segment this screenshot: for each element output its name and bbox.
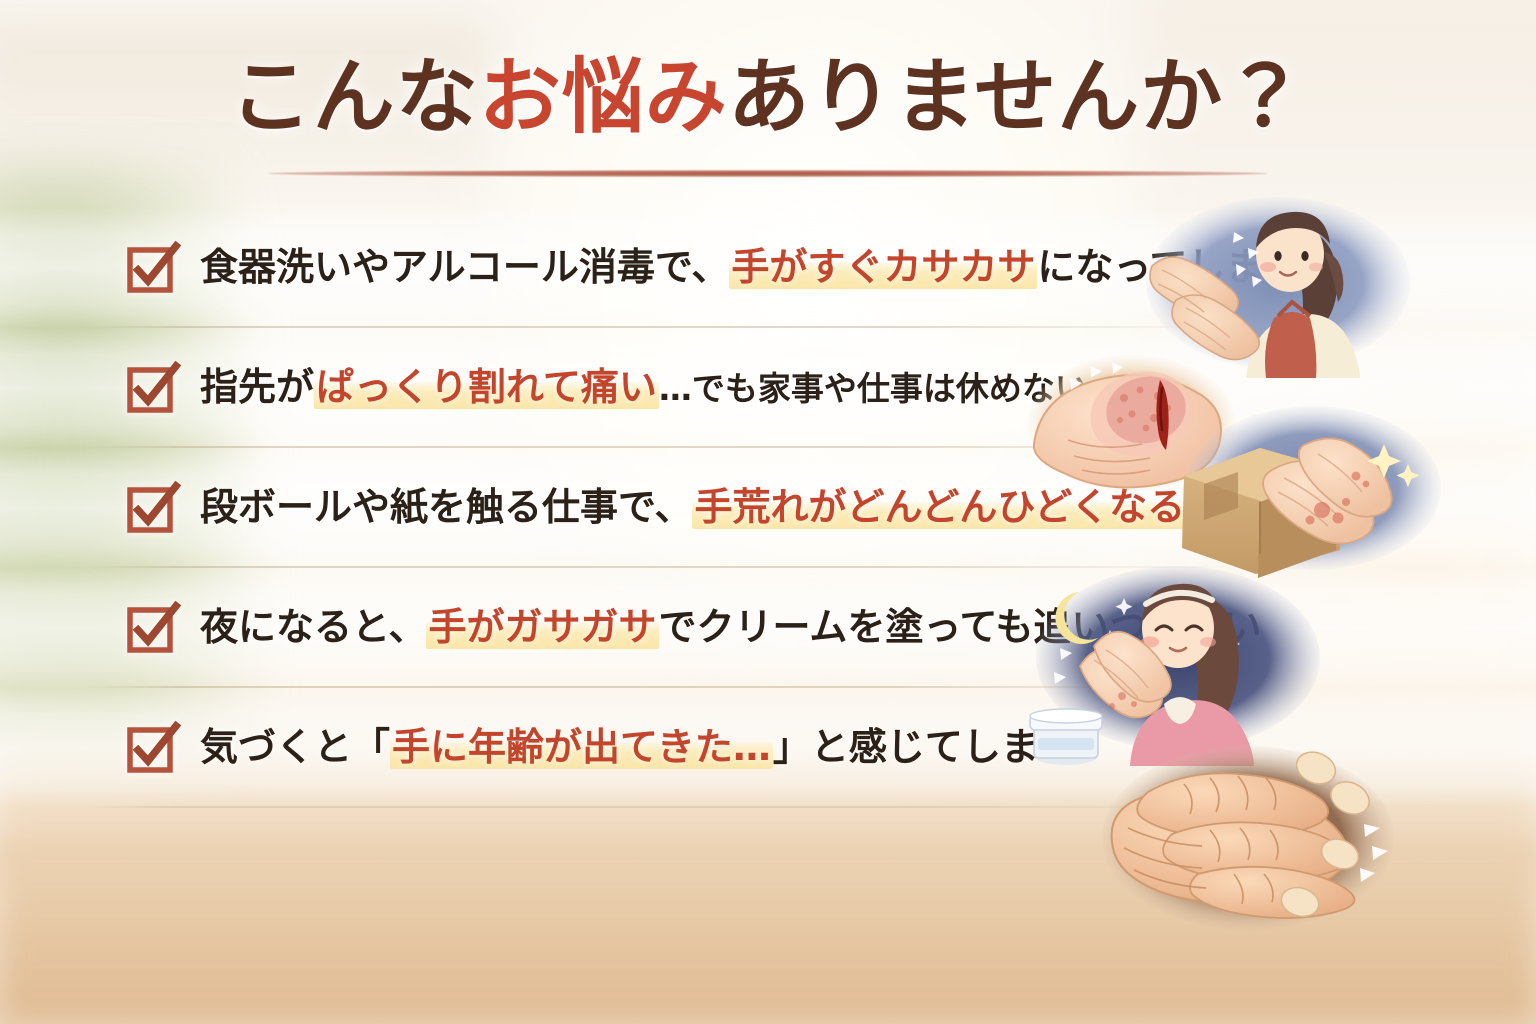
list-item-text: 気づくと「手に年齢が出てきた…」と感じてしまう [200, 724, 1077, 772]
text-highlight: ぱっくり割れて痛い [314, 365, 659, 409]
text-pre: 指先が [200, 365, 314, 409]
text-pre: 夜になると、 [200, 605, 426, 649]
checkbox-checked-icon [126, 722, 178, 774]
text-pre: 気づくと「 [200, 725, 390, 769]
checkbox-checked-icon [126, 602, 178, 654]
illustration-woman-at-night-with-cream [1018, 556, 1338, 766]
text-pre: 食器洗いやアルコール消毒で、 [200, 245, 729, 289]
text-highlight: 手がすぐカサカサ [729, 245, 1037, 289]
checkbox-checked-icon [126, 362, 178, 414]
list-item-text: 指先がぱっくり割れて痛い…でも家事や仕事は休めない [200, 364, 1088, 412]
title-underline-rule [268, 170, 1268, 177]
poster-canvas: こんなお悩みありませんか？ 食器洗いやアルコール消毒で、手がすぐカサカサになって… [0, 0, 1536, 1024]
illustration-aged-wrinkled-hand [1088, 738, 1408, 938]
checkbox-checked-icon [126, 482, 178, 534]
title-accent: お悩み [479, 50, 728, 145]
title-tail: ありませんか？ [728, 50, 1307, 145]
illustration-hands-on-cardboard-box [1168, 398, 1458, 578]
text-highlight: 手に年齢が出てきた… [390, 725, 773, 769]
headline-block: こんなお悩みありませんか？ [0, 52, 1536, 144]
title-lead: こんな [230, 50, 479, 145]
page-title: こんなお悩みありませんか？ [230, 52, 1307, 144]
text-pre: 段ボールや紙を触る仕事で、 [200, 485, 692, 529]
checkbox-checked-icon [126, 242, 178, 294]
text-highlight: 手がガサガサ [426, 605, 658, 649]
